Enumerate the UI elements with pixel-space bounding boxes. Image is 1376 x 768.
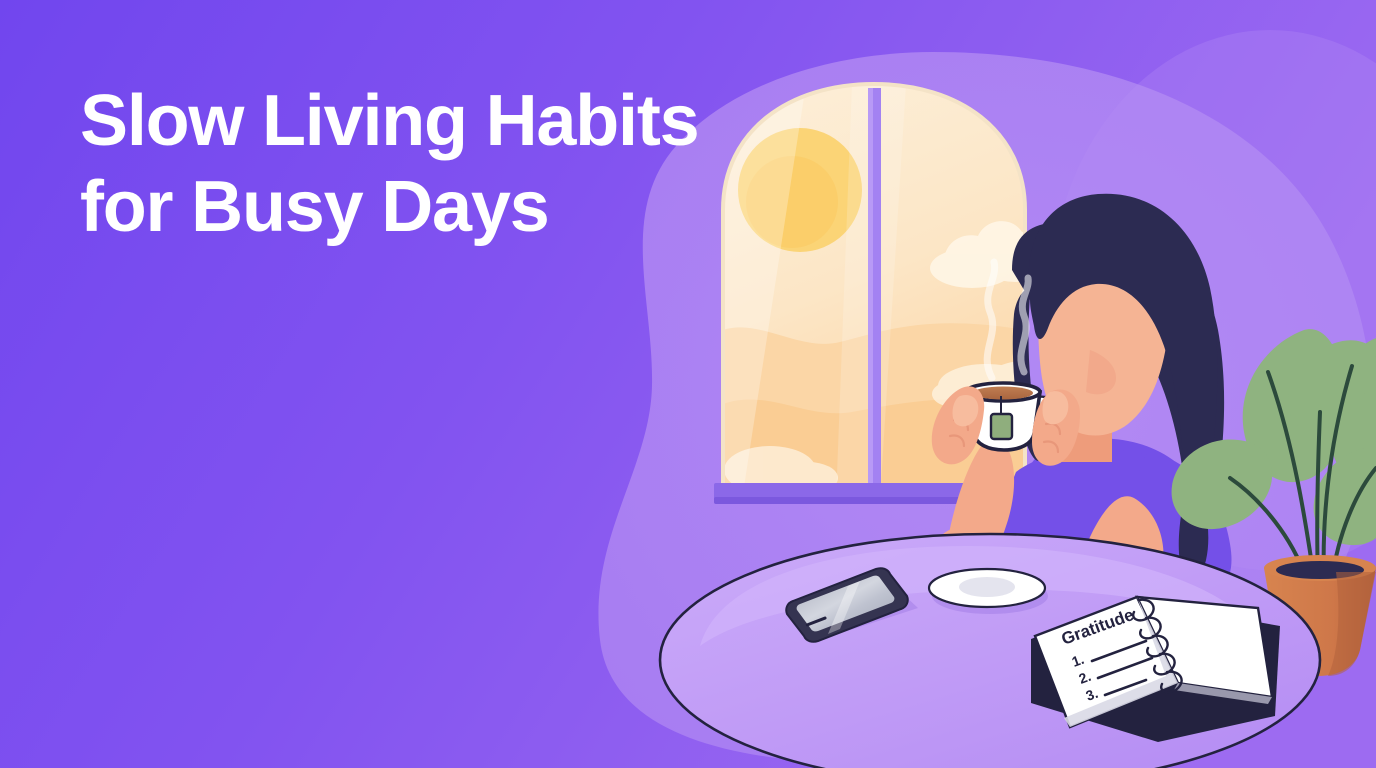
tea-bag-tag (991, 414, 1012, 439)
saucer-well (959, 577, 1015, 597)
window-mullion-highlight (868, 88, 873, 500)
illustration-layer: Gratitude 1. 2. 3. (0, 0, 1376, 768)
saucer (929, 569, 1048, 614)
hero-banner: Gratitude 1. 2. 3. Slow Living Habits fo… (0, 0, 1376, 768)
